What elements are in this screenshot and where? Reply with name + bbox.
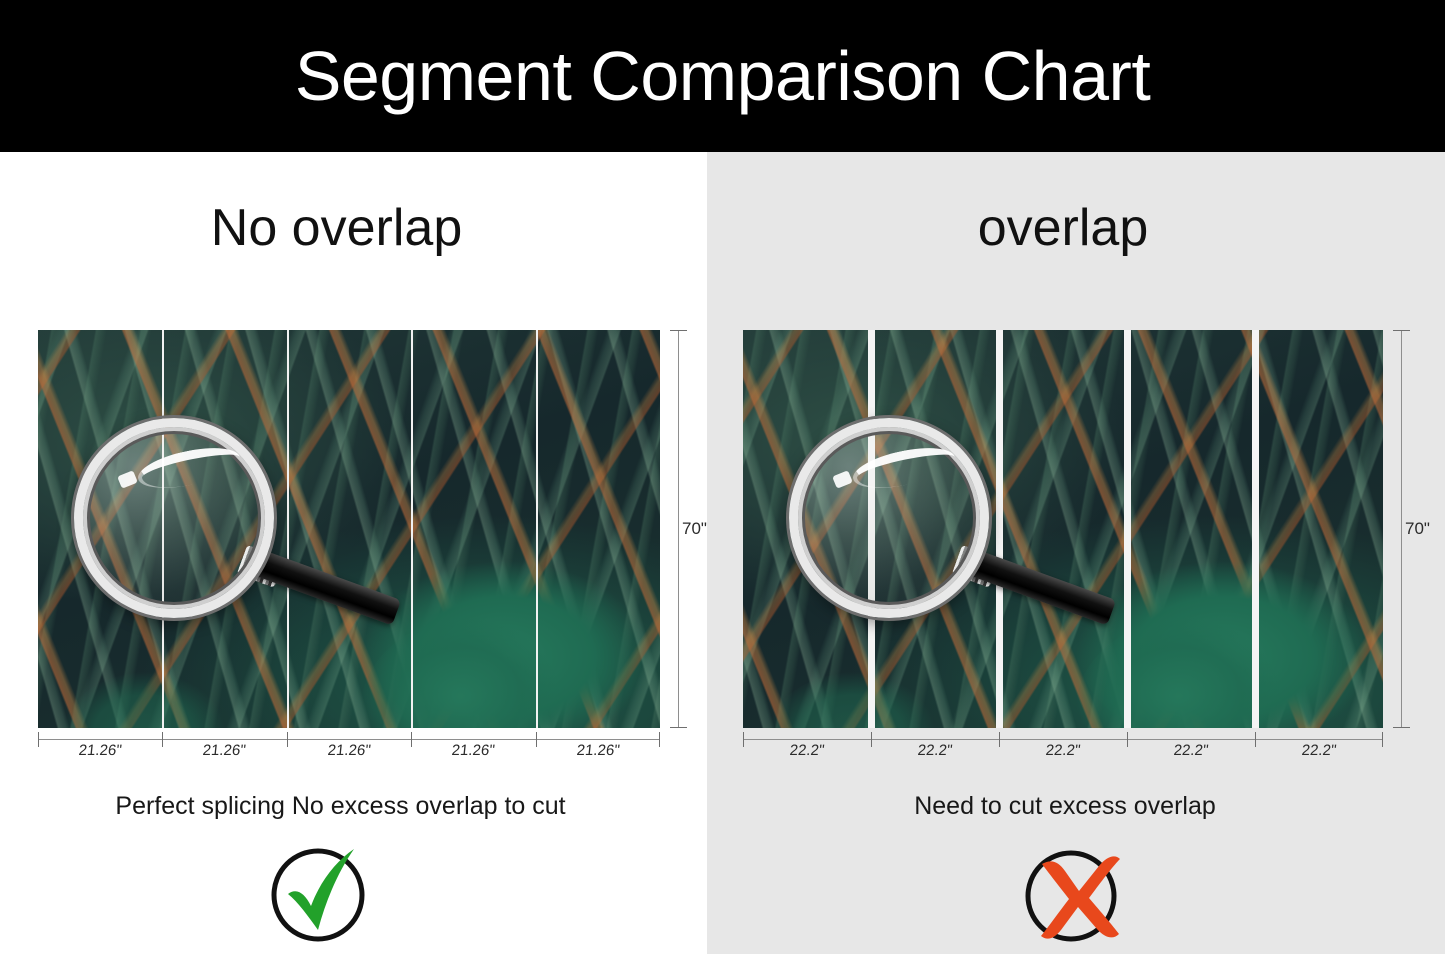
panel-overlap: overlap bbox=[707, 152, 1445, 954]
mural-artwork-left bbox=[38, 330, 660, 728]
page-title: Segment Comparison Chart bbox=[295, 41, 1151, 111]
mural-overlap bbox=[743, 330, 1383, 728]
magnifier-lens bbox=[74, 418, 274, 618]
lens-highlight bbox=[135, 441, 244, 496]
segment-width-label: 22.2" bbox=[1254, 742, 1384, 759]
leaf-shape bbox=[769, 672, 935, 728]
leaf-shape bbox=[361, 561, 647, 728]
dimension-line bbox=[1401, 330, 1402, 728]
leaf-shape bbox=[1076, 617, 1281, 728]
panels-container: No overlap bbox=[0, 152, 1445, 954]
panel-seam-overlap bbox=[1124, 330, 1131, 728]
segment-width-label: 21.26" bbox=[161, 742, 287, 759]
height-dimension-left: 70" bbox=[662, 330, 696, 728]
lens-highlight bbox=[850, 441, 959, 496]
lens-highlight bbox=[832, 470, 853, 488]
panel-seam-overlap bbox=[868, 330, 875, 728]
height-label: 70" bbox=[1405, 519, 1430, 539]
segment-width-label: 21.26" bbox=[37, 742, 163, 759]
panel-heading-overlap: overlap bbox=[707, 202, 1445, 254]
magnifier-handle bbox=[960, 547, 1116, 626]
height-dimension-right: 70" bbox=[1385, 330, 1419, 728]
title-banner: Segment Comparison Chart bbox=[0, 0, 1445, 152]
check-circle-icon bbox=[266, 842, 370, 946]
leaf-shape bbox=[1076, 561, 1370, 728]
lens-highlight bbox=[117, 470, 138, 488]
panel-seam bbox=[162, 330, 164, 728]
segment-width-label: 21.26" bbox=[535, 742, 661, 759]
width-dimension-left: 21.26" 21.26" 21.26" 21.26" 21.26" bbox=[38, 732, 660, 762]
comparison-chart-page: Segment Comparison Chart No overlap bbox=[0, 0, 1445, 954]
segment-width-label: 22.2" bbox=[742, 742, 872, 759]
segment-width-label: 21.26" bbox=[410, 742, 536, 759]
dimension-tick bbox=[1393, 727, 1410, 728]
dimension-line bbox=[678, 330, 679, 728]
panel-seam bbox=[536, 330, 538, 728]
panel-seam bbox=[287, 330, 289, 728]
panel-seam-overlap bbox=[996, 330, 1003, 728]
leaf-shape bbox=[63, 672, 225, 728]
magnifier-lens bbox=[789, 418, 989, 618]
segment-width-label: 22.2" bbox=[1126, 742, 1256, 759]
height-label: 70" bbox=[682, 519, 707, 539]
panel-seam bbox=[411, 330, 413, 728]
width-dimension-right: 22.2" 22.2" 22.2" 22.2" 22.2" bbox=[743, 732, 1383, 762]
segment-width-label: 21.26" bbox=[286, 742, 412, 759]
cross-circle-icon bbox=[1021, 842, 1125, 946]
dimension-tick bbox=[670, 330, 687, 331]
panel-no-overlap: No overlap bbox=[0, 152, 707, 954]
magnifier-handle bbox=[245, 547, 401, 626]
caption-no-overlap: Perfect splicing No excess overlap to cu… bbox=[0, 792, 707, 821]
mural-no-overlap bbox=[38, 330, 660, 728]
magnifier-ferrule bbox=[952, 545, 1000, 588]
dimension-tick bbox=[1393, 330, 1410, 331]
segment-width-label: 22.2" bbox=[998, 742, 1128, 759]
caption-overlap: Need to cut excess overlap bbox=[707, 792, 1445, 821]
magnifier-ferrule bbox=[237, 545, 285, 588]
dimension-line bbox=[38, 739, 660, 740]
segment-width-label: 22.2" bbox=[870, 742, 1000, 759]
panel-heading-no-overlap: No overlap bbox=[0, 202, 707, 254]
dimension-tick bbox=[670, 727, 687, 728]
dimension-line bbox=[743, 739, 1383, 740]
leaf-shape bbox=[361, 617, 560, 728]
mural-artwork-right bbox=[743, 330, 1383, 728]
panel-seam-overlap bbox=[1252, 330, 1259, 728]
